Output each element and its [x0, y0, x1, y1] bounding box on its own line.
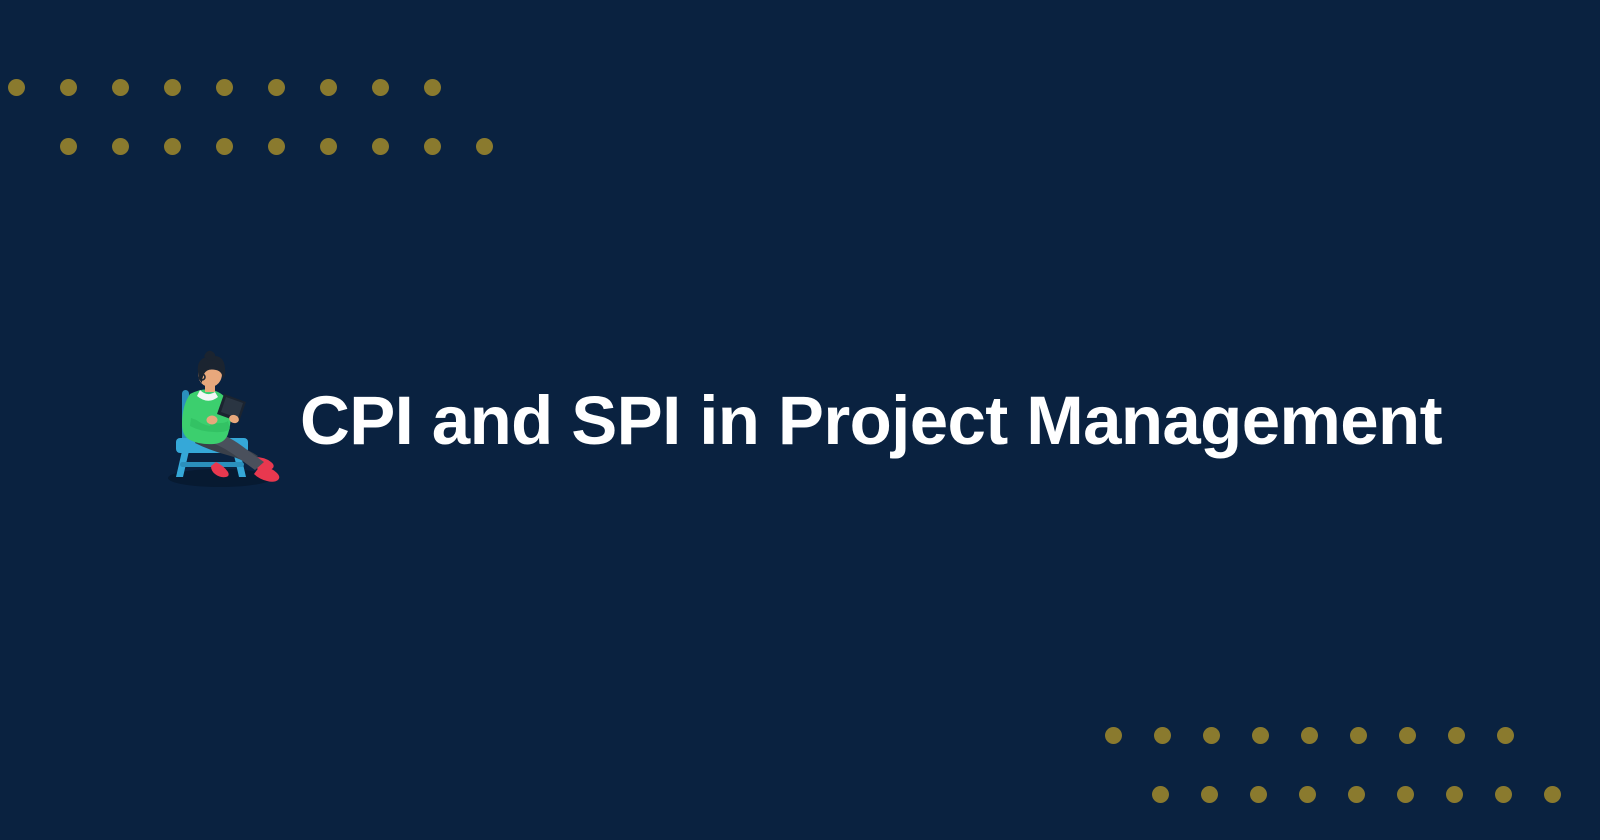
dot [164, 138, 181, 155]
dot [216, 138, 233, 155]
dot [1348, 786, 1365, 803]
title-block: CPI and SPI in Project Management [160, 350, 1440, 490]
dot [1446, 786, 1463, 803]
dot [1105, 727, 1122, 744]
dot [216, 79, 233, 96]
dot [1154, 727, 1171, 744]
page-title: CPI and SPI in Project Management [300, 386, 1442, 455]
banner-slide: CPI and SPI in Project Management [0, 0, 1600, 840]
dot [1152, 786, 1169, 803]
dot [8, 79, 25, 96]
dot [112, 138, 129, 155]
dot [112, 79, 129, 96]
dot [60, 79, 77, 96]
dot [1299, 786, 1316, 803]
dot [1350, 727, 1367, 744]
dot [60, 138, 77, 155]
dot [320, 79, 337, 96]
dot [1497, 727, 1514, 744]
dot [1399, 727, 1416, 744]
dot [1544, 786, 1561, 803]
dot [424, 79, 441, 96]
dot [372, 79, 389, 96]
dot [424, 138, 441, 155]
dot [476, 138, 493, 155]
dot [1397, 786, 1414, 803]
dot [268, 79, 285, 96]
dot [1250, 786, 1267, 803]
person-with-laptop-illustration [160, 350, 288, 490]
dot [1252, 727, 1269, 744]
dot [268, 138, 285, 155]
dot [1201, 786, 1218, 803]
dot [164, 79, 181, 96]
dot [1495, 786, 1512, 803]
dot [1301, 727, 1318, 744]
dot [1203, 727, 1220, 744]
dot [1448, 727, 1465, 744]
dot [372, 138, 389, 155]
dot [320, 138, 337, 155]
